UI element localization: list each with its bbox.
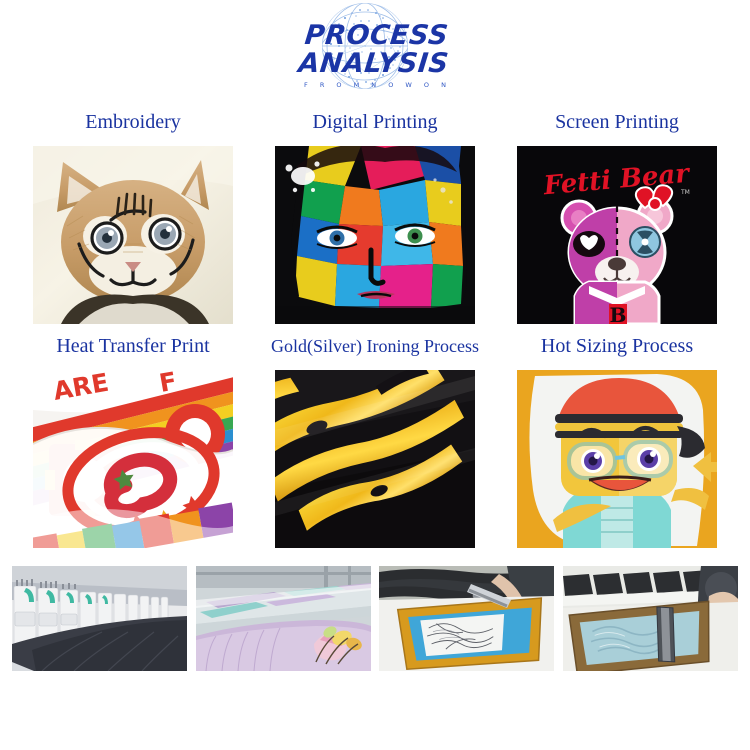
page-subtitle: F R O M N O W O N <box>225 81 525 89</box>
printing-table-photo[interactable] <box>196 566 371 671</box>
process-analysis-page: PROCESS ANALYSIS F R O M N O W O N Embro… <box>0 0 750 750</box>
process-cell-hot-sizing[interactable]: Hot Sizing Process <box>496 324 738 548</box>
process-cell-screen-printing[interactable]: Screen Printing Fetti Bear <box>496 100 738 324</box>
embroidered-cat-photo[interactable] <box>33 146 233 324</box>
gold-ironing-photo[interactable] <box>275 370 475 548</box>
page-header: PROCESS ANALYSIS F R O M N O W O N <box>0 0 750 100</box>
process-label-screen-printing: Screen Printing <box>551 100 683 146</box>
process-grid: Embroidery <box>0 100 750 548</box>
process-row-1: Embroidery <box>12 100 738 324</box>
page-title: PROCESS ANALYSIS <box>222 22 528 79</box>
hot-sizing-process-photo[interactable] <box>517 370 717 548</box>
squeegee-printing-photo[interactable] <box>563 566 738 671</box>
embroidery-machine-line-photo[interactable] <box>12 566 187 671</box>
process-label-digital-printing: Digital Printing <box>309 100 442 146</box>
screen-frame-photo[interactable] <box>379 566 554 671</box>
process-cell-heat-transfer-print[interactable]: Heat Transfer Print ARE <box>12 324 254 548</box>
factory-photo-strip <box>12 566 738 671</box>
heat-transfer-print-photo[interactable]: ARE F <box>33 370 233 548</box>
process-label-embroidery: Embroidery <box>81 100 185 146</box>
screen-print-fetti-bear-photo[interactable]: Fetti Bear <box>517 146 717 324</box>
digital-print-portrait-photo[interactable] <box>275 146 475 324</box>
process-cell-embroidery[interactable]: Embroidery <box>12 100 254 324</box>
process-cell-gold-silver-ironing[interactable]: Gold(Silver) Ironing Process <box>254 324 496 548</box>
svg-text:B: B <box>610 303 627 324</box>
process-label-hot-sizing: Hot Sizing Process <box>537 324 697 370</box>
process-row-2: Heat Transfer Print ARE <box>12 324 738 548</box>
process-label-heat-transfer-print: Heat Transfer Print <box>52 324 213 370</box>
process-cell-digital-printing[interactable]: Digital Printing <box>254 100 496 324</box>
process-label-gold-silver-ironing: Gold(Silver) Ironing Process <box>267 324 483 370</box>
svg-text:TM: TM <box>680 189 690 196</box>
